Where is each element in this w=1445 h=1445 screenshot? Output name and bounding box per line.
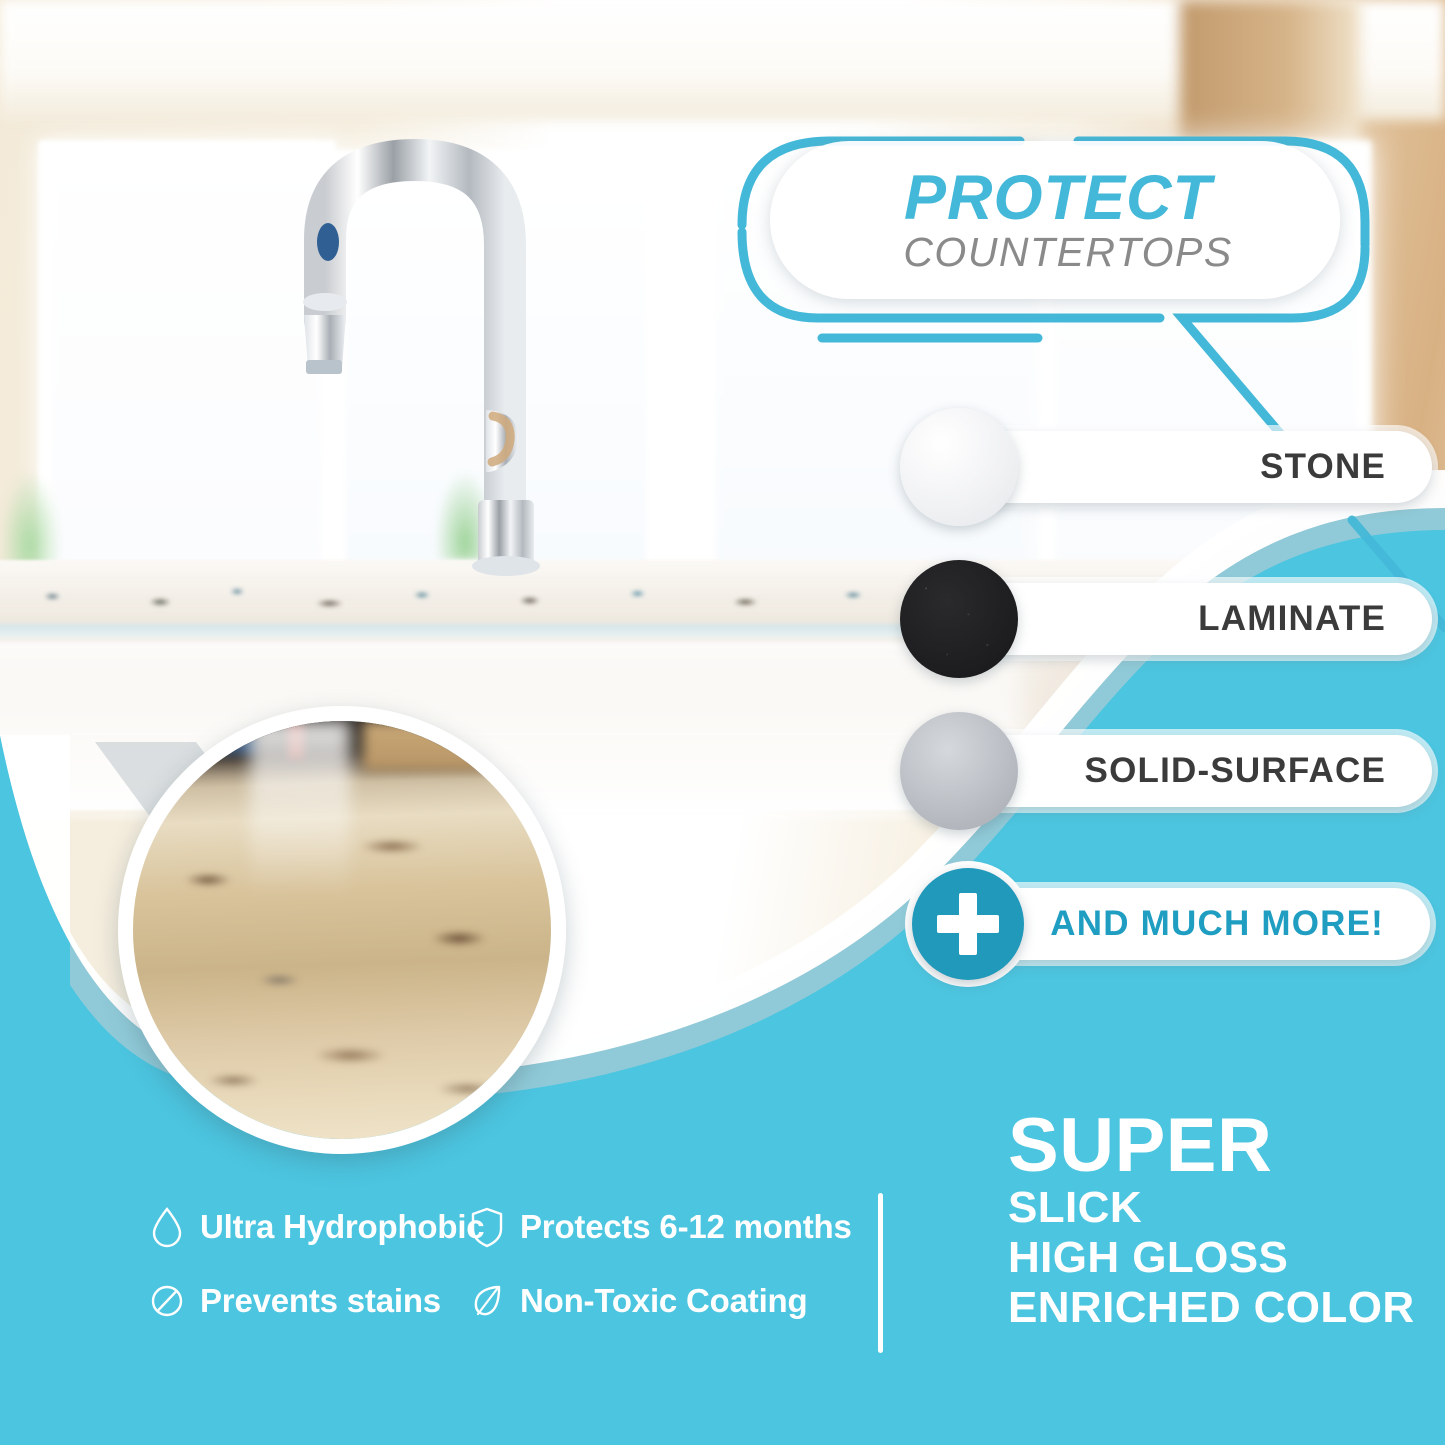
protect-countertops-badge: PROTECT COUNTERTOPS (752, 133, 1362, 313)
feature-label: Protects 6-12 months (520, 1208, 852, 1246)
feature-protects-duration: Protects 6-12 months (470, 1206, 800, 1248)
material-pill[interactable]: LAMINATE (962, 583, 1432, 655)
feature-prevents-stains: Prevents stains (150, 1280, 470, 1322)
material-label: AND MUCH MORE! (1050, 904, 1384, 944)
feature-non-toxic-coating: Non-Toxic Coating (470, 1280, 800, 1322)
super-line-high-gloss: HIGH GLOSS (1008, 1233, 1428, 1283)
material-item-stone[interactable]: STONE (900, 431, 1432, 503)
water-droplet-icon (150, 1206, 184, 1248)
vertical-divider (878, 1193, 883, 1353)
super-line-slick: SLICK (1008, 1183, 1428, 1233)
leaf-icon (470, 1280, 504, 1322)
countertop-edge (0, 624, 940, 638)
feature-label: Non-Toxic Coating (520, 1282, 807, 1320)
solid-surface-gray-swatch (900, 712, 1018, 830)
laminate-black-swatch (900, 560, 1018, 678)
granite-gloss-highlight (250, 721, 350, 897)
feature-ultra-hydrophobic: Ultra Hydrophobic (150, 1206, 470, 1248)
product-infographic: PROTECT COUNTERTOPS STONE LAMINATE SOLID… (0, 0, 1445, 1445)
super-line-enriched-color: ENRICHED COLOR (1008, 1283, 1428, 1333)
material-item-laminate[interactable]: LAMINATE (900, 583, 1432, 655)
material-pill[interactable]: AND MUCH MORE! (970, 888, 1430, 960)
badge-text-group: PROTECT COUNTERTOPS (770, 141, 1340, 299)
material-item-and-much-more[interactable]: AND MUCH MORE! (912, 888, 1430, 960)
material-label: LAMINATE (1198, 599, 1386, 639)
granite-closeup-circle (118, 706, 566, 1154)
feature-label: Prevents stains (200, 1282, 441, 1320)
shield-icon (470, 1206, 504, 1248)
badge-subtitle: COUNTERTOPS (903, 232, 1232, 273)
material-pill[interactable]: STONE (962, 431, 1432, 503)
badge-title: PROTECT (904, 167, 1212, 230)
plus-glyph (937, 893, 999, 955)
super-benefits-block: SUPER SLICK HIGH GLOSS ENRICHED COLOR (1008, 1110, 1428, 1333)
no-stain-icon (150, 1280, 184, 1322)
material-pill[interactable]: SOLID-SURFACE (962, 735, 1432, 807)
material-label: STONE (1260, 447, 1386, 487)
plant-blur-left (0, 470, 60, 570)
stone-marble-swatch (900, 408, 1018, 526)
material-label: SOLID-SURFACE (1085, 751, 1386, 791)
feature-label: Ultra Hydrophobic (200, 1208, 484, 1246)
kitchen-faucet-icon (250, 120, 580, 620)
feature-list: Ultra Hydrophobic Protects 6-12 months P… (150, 1206, 830, 1322)
plus-icon[interactable] (912, 868, 1024, 980)
material-item-solid-surface[interactable]: SOLID-SURFACE (900, 735, 1432, 807)
super-headline: SUPER (1008, 1110, 1428, 1183)
